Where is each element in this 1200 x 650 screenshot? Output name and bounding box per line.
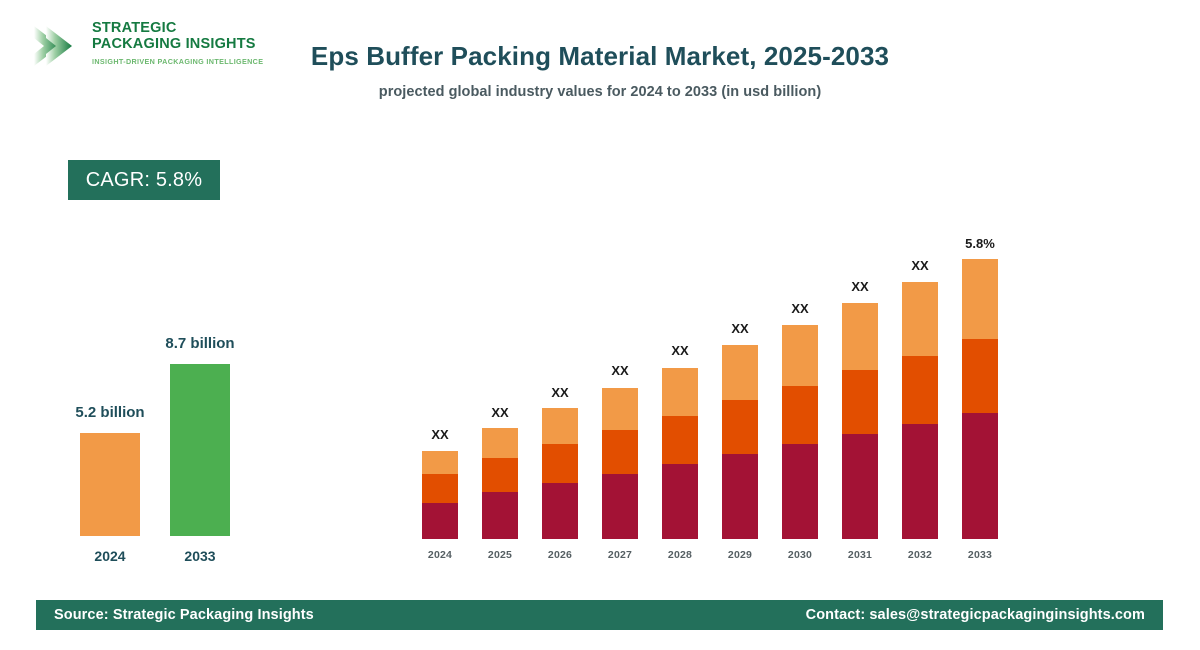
endpoint-comparison-chart: 5.2 billion20248.7 billion2033	[40, 300, 300, 570]
brand-wordmark: STRATEGIC PACKAGING INSIGHTS INSIGHT-DRI…	[92, 20, 272, 66]
forecast-stacked-bar	[902, 282, 938, 539]
forecast-bar-segment	[542, 408, 578, 444]
segmented-forecast-chart: XX2024XX2025XX2026XX2027XX2028XX2029XX20…	[400, 190, 1040, 565]
forecast-value-label: XX	[710, 321, 770, 336]
forecast-bar-segment	[842, 370, 878, 434]
cagr-badge: CAGR: 5.8%	[68, 160, 220, 200]
title-block: Eps Buffer Packing Material Market, 2025…	[300, 38, 900, 100]
page-subtitle: projected global industry values for 202…	[300, 84, 900, 100]
forecast-bar-segment	[962, 339, 998, 413]
forecast-stacked-bar	[782, 325, 818, 539]
comparison-category-label: 2024	[80, 548, 140, 564]
forecast-bar-segment	[722, 345, 758, 400]
forecast-category-label: 2033	[954, 549, 1006, 561]
forecast-bar-segment	[662, 368, 698, 416]
forecast-category-label: 2030	[774, 549, 826, 561]
forecast-bar-segment	[722, 400, 758, 454]
comparison-bar-column	[170, 364, 230, 536]
forecast-bar-segment	[542, 483, 578, 539]
forecast-stacked-bar	[722, 345, 758, 539]
cagr-badge-label: CAGR: 5.8%	[86, 169, 202, 192]
footer-contact: Contact: sales@strategicpackaginginsight…	[806, 607, 1145, 623]
forecast-category-label: 2024	[414, 549, 466, 561]
forecast-value-label: XX	[590, 363, 650, 378]
forecast-category-label: 2027	[594, 549, 646, 561]
forecast-bar-segment	[482, 492, 518, 539]
forecast-bar-segment	[602, 388, 638, 430]
forecast-bar-segment	[662, 416, 698, 464]
forecast-bar-column: XX2031	[840, 235, 880, 565]
comparison-value-label: 5.2 billion	[30, 404, 190, 421]
forecast-value-label: XX	[530, 385, 590, 400]
forecast-value-label: XX	[830, 279, 890, 294]
forecast-value-label: XX	[410, 427, 470, 442]
forecast-value-label: XX	[470, 405, 530, 420]
forecast-bar-column: XX2029	[720, 235, 760, 565]
forecast-bar-segment	[422, 503, 458, 539]
forecast-bar-segment	[482, 428, 518, 458]
forecast-bar-segment	[962, 259, 998, 339]
forecast-bar-column: 5.8%2033	[960, 235, 1000, 565]
forecast-bar-segment	[902, 282, 938, 356]
comparison-category-label: 2033	[170, 548, 230, 564]
forecast-bar-segment	[842, 434, 878, 539]
forecast-bar-segment	[662, 464, 698, 539]
forecast-value-label: XX	[770, 301, 830, 316]
forecast-bar-segment	[962, 413, 998, 539]
forecast-bar-column: XX2024	[420, 235, 460, 565]
forecast-bar-column: XX2028	[660, 235, 700, 565]
forecast-stacked-bar	[842, 303, 878, 539]
forecast-bar-segment	[842, 303, 878, 370]
forecast-category-label: 2032	[894, 549, 946, 561]
forecast-bar-segment	[722, 454, 758, 539]
forecast-stacked-bar	[962, 259, 998, 539]
forecast-bar-segment	[902, 424, 938, 539]
forecast-value-label: 5.8%	[950, 236, 1010, 251]
footer-bar: Source: Strategic Packaging Insights Con…	[36, 600, 1163, 630]
forecast-stacked-bar	[482, 428, 518, 539]
forecast-bar-segment	[482, 458, 518, 492]
brand-name-line1: STRATEGIC	[92, 20, 272, 36]
brand-logo: STRATEGIC PACKAGING INSIGHTS INSIGHT-DRI…	[30, 14, 270, 78]
footer-source: Source: Strategic Packaging Insights	[54, 607, 314, 623]
forecast-bar-segment	[602, 474, 638, 539]
forecast-bar-column: XX2025	[480, 235, 520, 565]
forecast-category-label: 2031	[834, 549, 886, 561]
comparison-bar	[170, 364, 230, 536]
forecast-bar-segment	[782, 386, 818, 444]
forecast-bar-segment	[602, 430, 638, 474]
forecast-category-label: 2029	[714, 549, 766, 561]
brand-name-line2: PACKAGING INSIGHTS	[92, 36, 272, 52]
forecast-bar-column: XX2030	[780, 235, 820, 565]
forecast-bar-segment	[902, 356, 938, 424]
chevron-logo-icon	[30, 18, 86, 74]
forecast-bar-segment	[782, 444, 818, 539]
forecast-bar-column: XX2032	[900, 235, 940, 565]
forecast-value-label: XX	[650, 343, 710, 358]
forecast-bar-column: XX2026	[540, 235, 580, 565]
forecast-bar-segment	[422, 474, 458, 503]
comparison-bar-column	[80, 433, 140, 536]
forecast-category-label: 2025	[474, 549, 526, 561]
forecast-bar-segment	[422, 451, 458, 474]
comparison-bar	[80, 433, 140, 536]
page-title: Eps Buffer Packing Material Market, 2025…	[300, 38, 900, 75]
forecast-category-label: 2028	[654, 549, 706, 561]
brand-tagline: INSIGHT-DRIVEN PACKAGING INTELLIGENCE	[92, 57, 272, 66]
forecast-bar-segment	[782, 325, 818, 386]
forecast-stacked-bar	[422, 451, 458, 539]
forecast-stacked-bar	[542, 408, 578, 539]
forecast-bar-column: XX2027	[600, 235, 640, 565]
forecast-stacked-bar	[662, 368, 698, 539]
forecast-bar-segment	[542, 444, 578, 483]
forecast-category-label: 2026	[534, 549, 586, 561]
forecast-stacked-bar	[602, 388, 638, 539]
comparison-value-label: 8.7 billion	[120, 335, 280, 352]
forecast-value-label: XX	[890, 258, 950, 273]
